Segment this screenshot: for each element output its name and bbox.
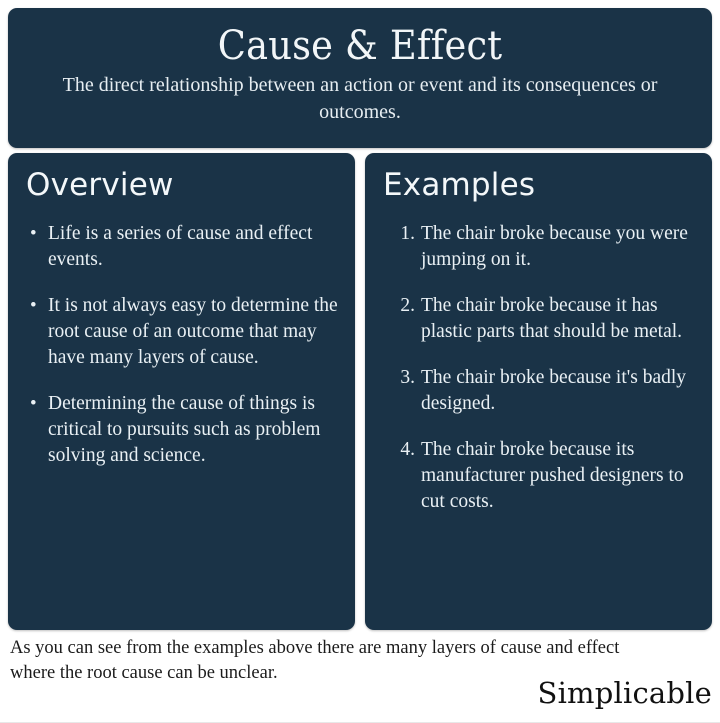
list-item: • Life is a series of cause and effect e… [22,221,341,273]
overview-panel: Overview • Life is a series of cause and… [8,153,355,630]
list-item: 4. The chair broke because its manufactu… [379,437,698,515]
bullet-icon: • [30,221,37,247]
list-item-text: The chair broke because you were jumping… [421,223,688,270]
list-item-text: Determining the cause of things is criti… [48,393,320,466]
list-item: 3. The chair broke because it's badly de… [379,365,698,417]
examples-list: 1. The chair broke because you were jump… [379,221,698,515]
list-number: 1. [385,221,415,247]
list-item-text: The chair broke because its manufacturer… [421,439,684,512]
bullet-icon: • [30,293,37,319]
list-item-text: The chair broke because it has plastic p… [421,295,682,342]
overview-panel-title: Overview [26,165,341,205]
examples-panel-title: Examples [383,165,698,205]
examples-panel: Examples 1. The chair broke because you … [365,153,712,630]
list-item: 2. The chair broke because it has plasti… [379,293,698,345]
infographic-root: Cause & Effect The direct relationship b… [0,0,720,723]
overview-list: • Life is a series of cause and effect e… [22,221,341,469]
list-number: 3. [385,365,415,391]
header-card: Cause & Effect The direct relationship b… [8,8,712,148]
page-title: Cause & Effect [62,22,658,70]
list-item: 1. The chair broke because you were jump… [379,221,698,273]
list-number: 2. [385,293,415,319]
list-item-text: Life is a series of cause and effect eve… [48,223,312,270]
list-item: • Determining the cause of things is cri… [22,391,341,469]
list-item-text: The chair broke because it's badly desig… [421,367,686,414]
list-item-text: It is not always easy to determine the r… [48,295,338,368]
bullet-icon: • [30,391,37,417]
list-number: 4. [385,437,415,463]
list-item: • It is not always easy to determine the… [22,293,341,371]
page-subtitle: The direct relationship between an actio… [40,72,680,126]
panel-columns: Overview • Life is a series of cause and… [8,153,712,630]
brand-logo: Simplicable [538,676,713,710]
